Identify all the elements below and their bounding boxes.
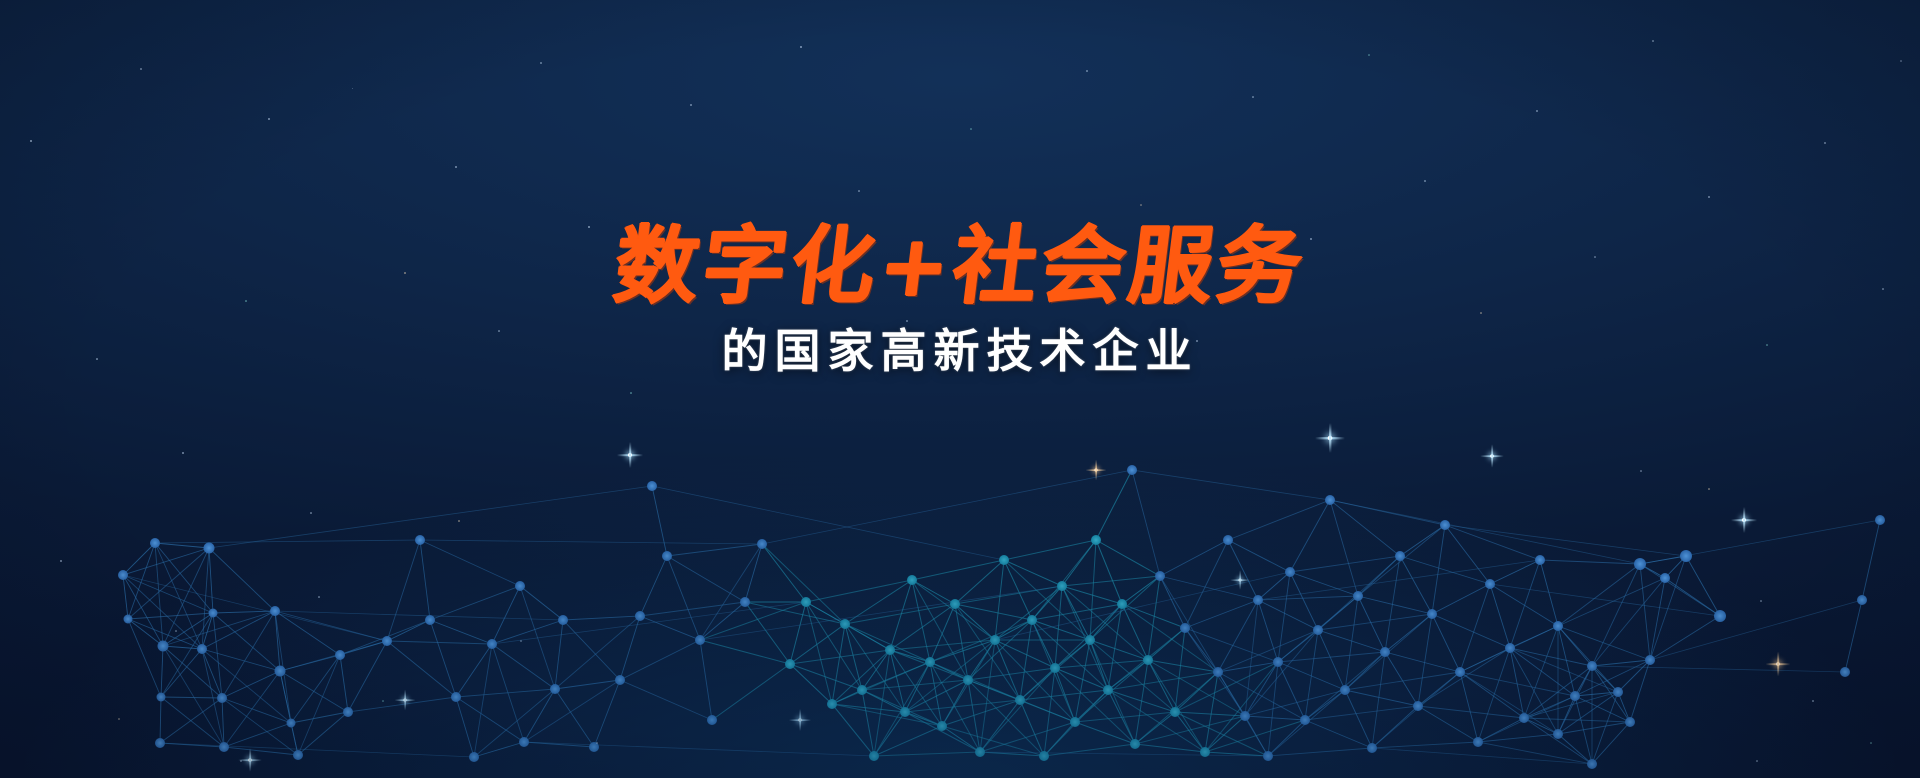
background-vignette	[0, 0, 1920, 778]
hero-banner: 数字化+社会服务 的国家高新技术企业	[0, 0, 1920, 778]
banner-subheadline: 的国家高新技术企业	[0, 324, 1920, 379]
banner-text-block: 数字化+社会服务 的国家高新技术企业	[0, 222, 1920, 379]
banner-headline: 数字化+社会服务	[609, 222, 1310, 310]
